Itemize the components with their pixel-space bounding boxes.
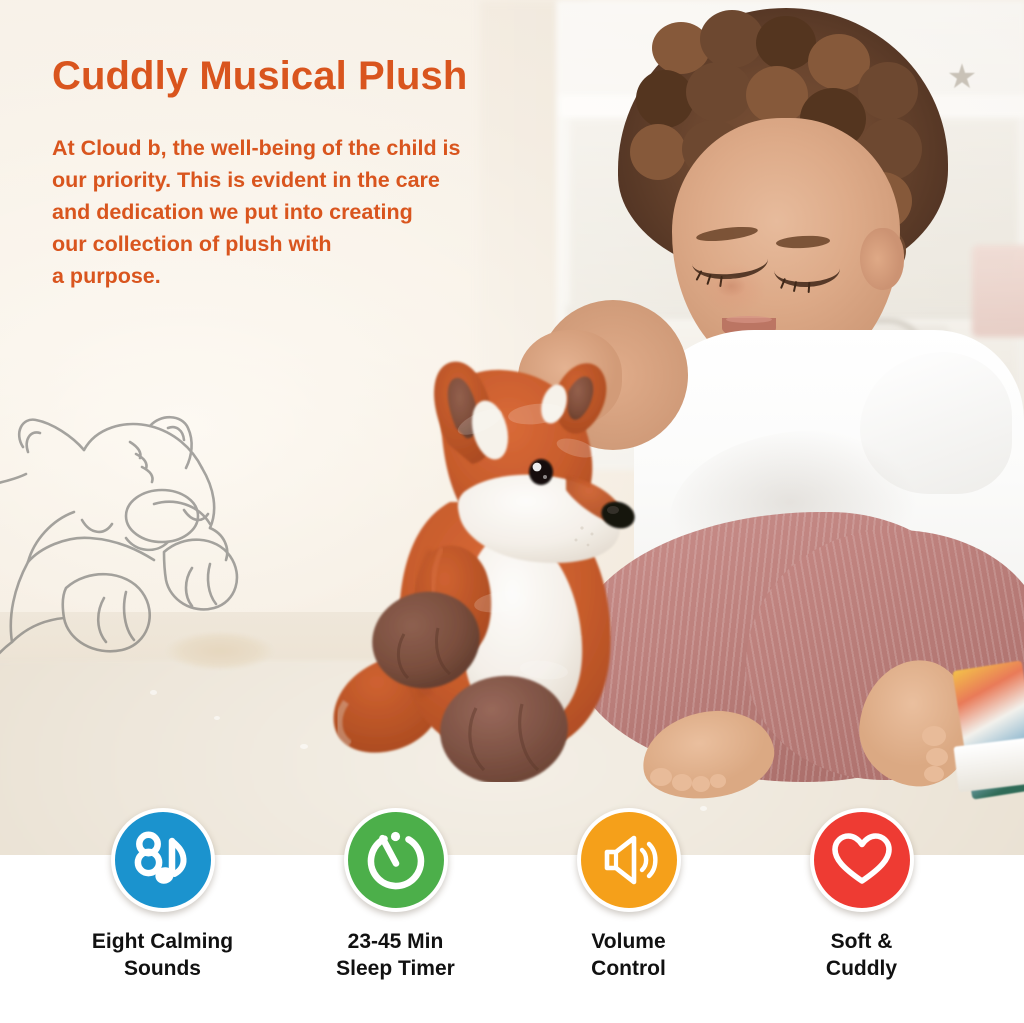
eight-music-note-icon (128, 825, 198, 895)
product-feature-image: ★ (0, 0, 1024, 1023)
feature-label-sounds-line1: Eight Calming (92, 928, 233, 955)
feature-badge-volume (577, 808, 681, 912)
fox-plush-toy (330, 352, 650, 782)
sleeping-fox-line-art-icon (0, 392, 308, 692)
body-copy: At Cloud b, the well-being of the child … (52, 132, 592, 292)
feature-label-cuddly: Soft & Cuddly (826, 928, 897, 982)
feature-badge-timer (344, 808, 448, 912)
speaker-volume-icon (594, 825, 664, 895)
picture-book-page (953, 738, 1024, 793)
feature-soft-cuddly[interactable]: Soft & Cuddly (764, 808, 960, 982)
feature-label-cuddly-line2: Cuddly (826, 955, 897, 982)
feature-badge-sounds (111, 808, 215, 912)
child-nose (710, 268, 752, 298)
feature-label-timer-line2: Sleep Timer (336, 955, 455, 982)
body-copy-line-1: At Cloud b, the well-being of the child … (52, 132, 592, 164)
feature-badge-cuddly (810, 808, 914, 912)
feature-list: Eight Calming Sounds 23-45 Min Sleep Tim… (0, 808, 1024, 1023)
body-copy-line-4: our collection of plush with (52, 228, 592, 260)
feature-label-volume-line2: Control (591, 955, 666, 982)
sleep-timer-icon (361, 825, 431, 895)
feature-eight-calming-sounds[interactable]: Eight Calming Sounds (65, 808, 261, 982)
feature-label-volume: Volume Control (591, 928, 666, 982)
body-copy-line-2: our priority. This is evident in the car… (52, 164, 592, 196)
feature-label-timer: 23-45 Min Sleep Timer (336, 928, 455, 982)
feature-label-cuddly-line1: Soft & (826, 928, 897, 955)
heart-outline-icon (827, 825, 897, 895)
feature-volume-control[interactable]: Volume Control (531, 808, 727, 982)
page-title: Cuddly Musical Plush (52, 54, 467, 99)
body-copy-line-5: a purpose. (52, 260, 592, 292)
child-ear (860, 228, 904, 290)
body-copy-line-3: and dedication we put into creating (52, 196, 592, 228)
feature-label-timer-line1: 23-45 Min (336, 928, 455, 955)
feature-sleep-timer[interactable]: 23-45 Min Sleep Timer (298, 808, 494, 982)
feature-label-sounds: Eight Calming Sounds (92, 928, 233, 982)
feature-label-volume-line1: Volume (591, 928, 666, 955)
feature-label-sounds-line2: Sounds (92, 955, 233, 982)
